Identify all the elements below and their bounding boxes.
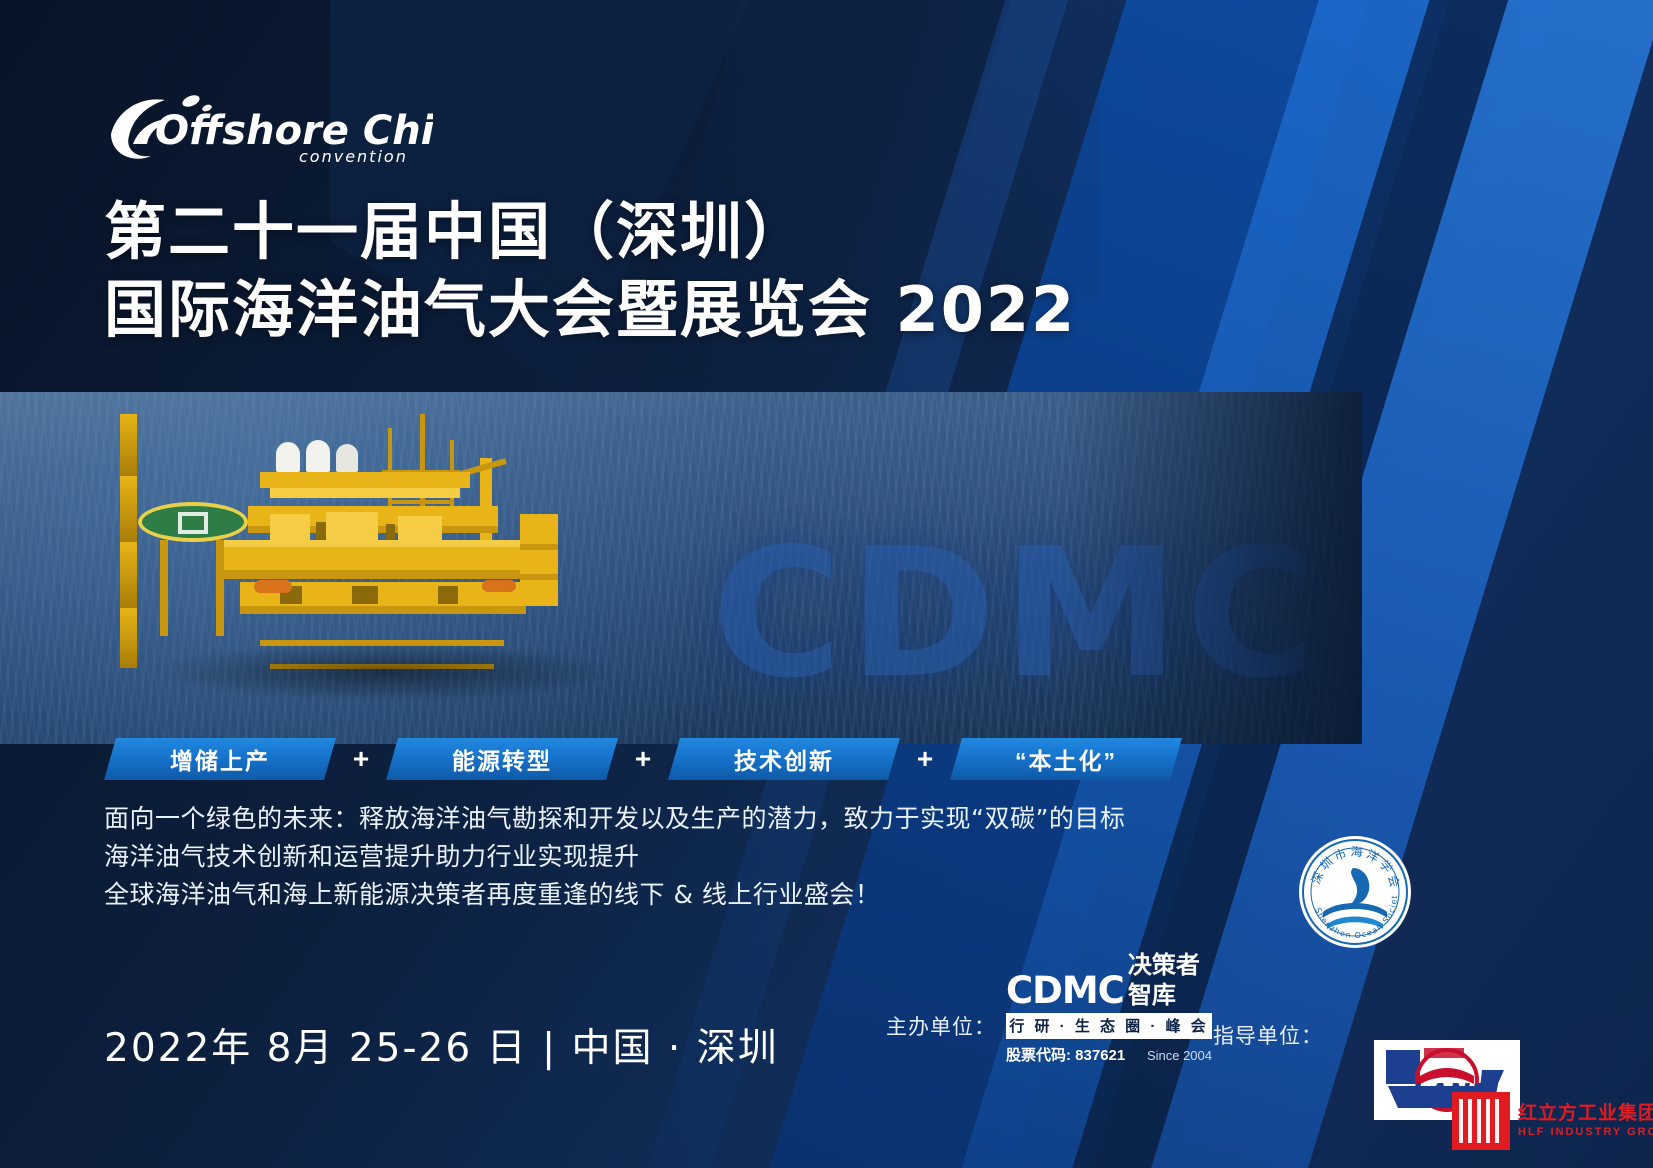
shenzhen-ocean-society-logo: 深圳市海洋学会 Shenzhen Ocean Society <box>1297 834 1413 950</box>
description-line-3: 全球海洋油气和海上新能源决策者再度重逢的线下 & 线上行业盛会！ <box>104 876 1214 914</box>
cdmc-footer: 股票代码: 837621 Since 2004 <box>1006 1044 1212 1065</box>
topic-pill-4[interactable]: “本土化” <box>950 738 1182 780</box>
topic-pill-1[interactable]: 增储上产 <box>104 738 336 780</box>
topic-pill-2[interactable]: 能源转型 <box>386 738 618 780</box>
topic-pill-4-label: “本土化” <box>1015 742 1117 776</box>
hero-image: CDMC <box>0 392 1362 744</box>
cdmc-logo: CDMC 决策者智库 行 研 · 生 态 圈 · 峰 会 股票代码: 83762… <box>1006 950 1212 1065</box>
pill-separator-2: + <box>618 743 668 775</box>
rig-water-shadow <box>150 642 620 702</box>
topic-pill-3-label: 技术创新 <box>734 742 834 776</box>
offshore-china-logo: Offshore China convention <box>103 88 433 166</box>
description-block: 面向一个绿色的未来：释放海洋油气勘探和开发以及生产的潜力，致力于实现“双碳”的目… <box>104 800 1214 914</box>
date-venue-line: 2022年 8月 25-26 日 | 中国 · 深圳 <box>104 1017 779 1073</box>
cdmc-name-cn: 决策者智库 <box>1128 950 1212 1010</box>
stock-code: 股票代码: 837621 <box>1006 1044 1125 1065</box>
page-title: 第二十一届中国（深圳） 国际海洋油气大会暨展览会 2022 <box>104 193 1076 349</box>
organizer-label: 主办单位： <box>886 1011 996 1065</box>
guidance-label: 指导单位： <box>1213 1020 1323 1050</box>
topic-pill-1-label: 增储上产 <box>170 742 270 776</box>
title-line-2: 国际海洋油气大会暨展览会 2022 <box>104 271 1076 349</box>
cdmc-tagline: 行 研 · 生 态 圈 · 峰 会 <box>1006 1013 1212 1039</box>
description-line-1: 面向一个绿色的未来：释放海洋油气勘探和开发以及生产的潜力，致力于实现“双碳”的目… <box>104 800 1214 838</box>
description-line-2: 海洋油气技术创新和运营提升助力行业实现提升 <box>104 838 1214 876</box>
organizer-block: 主办单位： CDMC 决策者智库 行 研 · 生 态 圈 · 峰 会 股票代码:… <box>886 950 1212 1065</box>
cdmc-wordmark: CDMC <box>1006 972 1124 1010</box>
hlf-mark-icon <box>1452 1092 1510 1150</box>
topic-pill-2-label: 能源转型 <box>452 742 552 776</box>
cdmc-logo-top: CDMC 决策者智库 <box>1006 950 1212 1010</box>
pill-separator-3: + <box>900 743 950 775</box>
since-year: Since 2004 <box>1147 1048 1212 1063</box>
topic-pill-row: 增储上产 + 能源转型 + 技术创新 + “本土化” <box>104 738 1182 780</box>
svg-text:convention: convention <box>299 147 408 166</box>
hlf-partner-logo: 红立方工业集团 HLF INDUSTRY GROUP <box>1452 1092 1653 1150</box>
topic-pill-3[interactable]: 技术创新 <box>668 738 900 780</box>
poster-root: Offshore China convention 第二十一届中国（深圳） 国际… <box>0 0 1653 1168</box>
title-line-1: 第二十一届中国（深圳） <box>104 193 1076 271</box>
hlf-text: 红立方工业集团 HLF INDUSTRY GROUP <box>1518 1102 1653 1140</box>
hero-edge-fade <box>1062 392 1362 744</box>
hlf-name-en: HLF INDUSTRY GROUP <box>1518 1126 1653 1140</box>
pill-separator-1: + <box>336 743 386 775</box>
hlf-name-cn: 红立方工业集团 <box>1518 1102 1653 1126</box>
poster-header: Offshore China convention 第二十一届中国（深圳） 国际… <box>0 0 1653 392</box>
